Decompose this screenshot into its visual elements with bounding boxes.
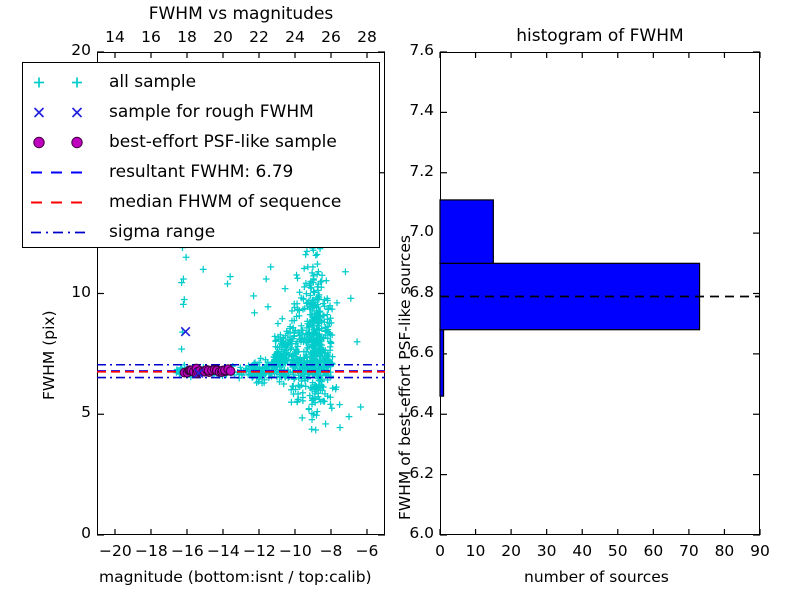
left-xtick-bottom-0: −20 <box>99 542 131 560</box>
right-xtick-8: 80 <box>708 542 740 560</box>
right-ytick-3: 6.6 <box>390 343 434 361</box>
legend-label-2: best-effort PSF-like sample <box>109 127 337 158</box>
right-ytick-5: 7.0 <box>390 222 434 240</box>
right-xtick-3: 30 <box>531 542 563 560</box>
legend-item-5[interactable]: sigma range <box>23 217 379 248</box>
left-xtick-top-0: 14 <box>99 28 131 46</box>
right-ytick-2: 6.4 <box>390 403 434 421</box>
left-xtick-top-3: 20 <box>207 28 239 46</box>
legend-item-1[interactable]: sample for rough FWHM <box>23 97 379 128</box>
left-xtick-top-7: 28 <box>351 28 383 46</box>
right-xtick-9: 90 <box>744 542 776 560</box>
left-xtick-top-1: 16 <box>135 28 167 46</box>
left-xtick-top-2: 18 <box>171 28 203 46</box>
left-xtick-bottom-5: −10 <box>279 542 311 560</box>
left-xtick-bottom-6: −8 <box>315 542 347 560</box>
legend-box: all samplesample for rough FWHMbest-effo… <box>22 62 380 248</box>
right-xtick-4: 40 <box>566 542 598 560</box>
right-ytick-6: 7.2 <box>390 162 434 180</box>
right-xtick-7: 70 <box>673 542 705 560</box>
right-ytick-4: 6.8 <box>390 283 434 301</box>
left-xtick-bottom-4: −12 <box>243 542 275 560</box>
right-xtick-5: 50 <box>602 542 634 560</box>
legend-label-5: sigma range <box>109 217 215 248</box>
right-xtick-2: 20 <box>495 542 527 560</box>
left-ytick-0: 0 <box>53 524 91 542</box>
right-xtick-1: 10 <box>460 542 492 560</box>
legend-label-1: sample for rough FWHM <box>109 97 314 128</box>
left-ytick-1: 5 <box>53 403 91 421</box>
left-xtick-bottom-3: −14 <box>207 542 239 560</box>
right-x-axis-label: number of sources <box>524 568 669 586</box>
legend-label-4: median FHWM of sequence <box>109 187 341 218</box>
legend-item-4[interactable]: median FHWM of sequence <box>23 187 379 218</box>
left-xtick-top-4: 22 <box>243 28 275 46</box>
legend-label-3: resultant FWHM: 6.79 <box>109 157 293 188</box>
histogram-bars <box>440 200 700 396</box>
right-xtick-0: 0 <box>424 542 456 560</box>
legend-item-2[interactable]: best-effort PSF-like sample <box>23 127 379 158</box>
right-ytick-8: 7.6 <box>390 41 434 59</box>
left-xtick-bottom-7: −6 <box>351 542 383 560</box>
legend-label-0: all sample <box>109 67 196 98</box>
left-xtick-bottom-1: −18 <box>135 542 167 560</box>
legend-item-3[interactable]: resultant FWHM: 6.79 <box>23 157 379 188</box>
right-xtick-6: 60 <box>637 542 669 560</box>
figure-canvas: FWHM vs magnitudes FWHM (pix) magnitude … <box>0 0 800 600</box>
left-xtick-bottom-2: −16 <box>171 542 203 560</box>
right-ytick-1: 6.2 <box>390 464 434 482</box>
left-xtick-top-5: 24 <box>279 28 311 46</box>
legend-item-0[interactable]: all sample <box>23 67 379 98</box>
right-ytick-0: 6.0 <box>390 524 434 542</box>
right-ytick-7: 7.4 <box>390 101 434 119</box>
left-xtick-top-6: 26 <box>315 28 347 46</box>
left-ytick-3: 20 <box>53 41 91 59</box>
left-ytick-2: 10 <box>53 283 91 301</box>
